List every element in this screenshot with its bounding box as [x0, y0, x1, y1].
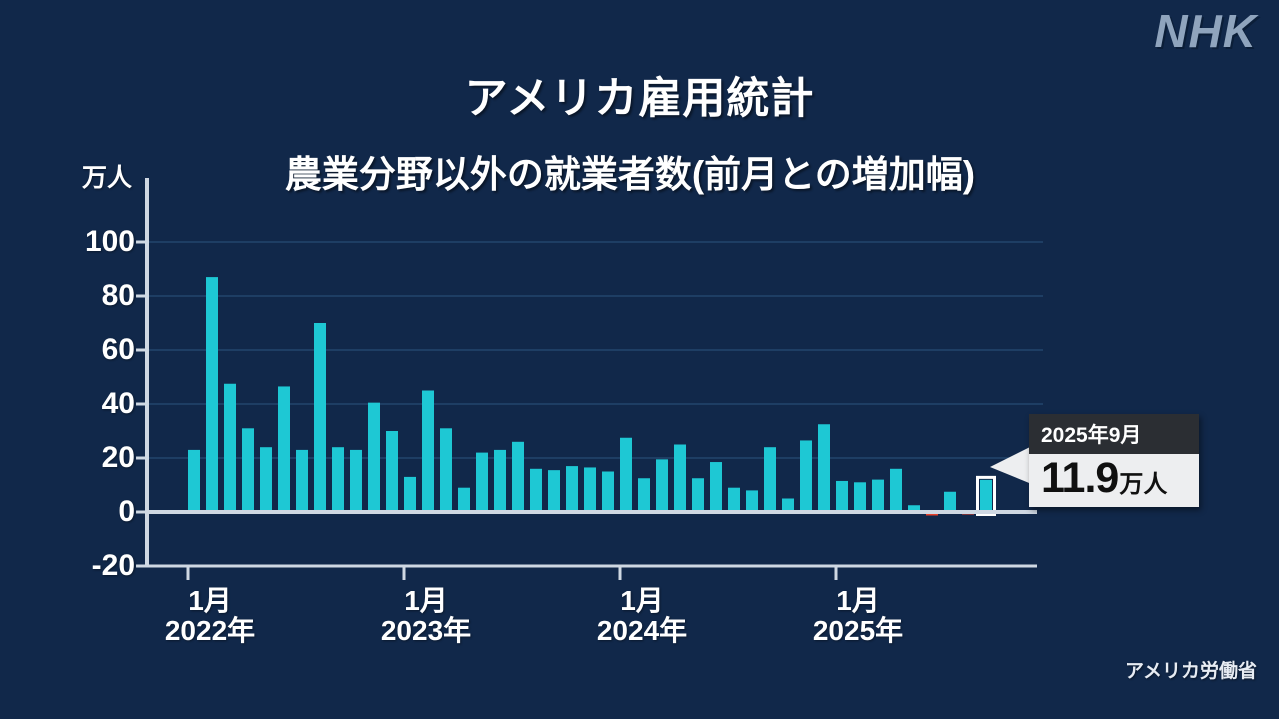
bar	[674, 445, 686, 513]
bar	[512, 442, 524, 512]
callout-pointer-icon	[990, 445, 1034, 485]
y-axis-tick-label: 20	[35, 441, 135, 475]
x-axis-tick-year: 2022年	[165, 615, 255, 647]
chart-canvas: NHK アメリカ雇用統計 農業分野以外の就業者数(前月との増加幅) 万人 100…	[0, 0, 1279, 719]
bar	[296, 450, 308, 512]
bar	[656, 459, 668, 512]
bar	[746, 490, 758, 512]
bar	[638, 478, 650, 512]
bar	[404, 477, 416, 512]
bars	[188, 277, 995, 515]
y-axis-tick-label: -20	[35, 549, 135, 583]
x-axis-tick-year: 2025年	[813, 615, 903, 647]
bar	[440, 428, 452, 512]
bar	[836, 481, 848, 512]
bar	[206, 277, 218, 512]
bar	[728, 488, 740, 512]
x-axis-tick-month: 1月	[381, 586, 471, 615]
x-axis-tick-month: 1月	[165, 586, 255, 615]
y-axis-tick-label: 0	[35, 495, 135, 529]
bar	[350, 450, 362, 512]
callout-period: 2025年9月	[1029, 414, 1199, 454]
bar	[332, 447, 344, 512]
x-axis-tick-year: 2023年	[381, 615, 471, 647]
x-axis-tick-month: 1月	[813, 586, 903, 615]
x-axis-ticks	[188, 566, 836, 580]
bar	[764, 447, 776, 512]
bar	[224, 384, 236, 512]
bar	[188, 450, 200, 512]
y-axis-tick-label: 60	[35, 333, 135, 367]
bar	[458, 488, 470, 512]
bar	[566, 466, 578, 512]
x-axis-tick-month: 1月	[597, 586, 687, 615]
bar	[386, 431, 398, 512]
callout-tooltip: 2025年9月 11.9 万人	[1029, 414, 1199, 507]
bar	[818, 424, 830, 512]
bar	[710, 462, 722, 512]
y-axis-tick-label: 40	[35, 387, 135, 421]
callout-body: 11.9 万人	[1029, 454, 1199, 507]
bar	[242, 428, 254, 512]
callout-unit: 万人	[1119, 464, 1167, 499]
bar	[476, 453, 488, 512]
bar	[260, 447, 272, 512]
x-axis-tick-label: 1月2022年	[165, 586, 255, 648]
y-axis-tick-label: 80	[35, 279, 135, 313]
y-axis-tick-label: 100	[35, 225, 135, 259]
bar	[782, 499, 794, 513]
bar	[872, 480, 884, 512]
bar	[692, 478, 704, 512]
x-axis-tick-year: 2024年	[597, 615, 687, 647]
bar	[854, 482, 866, 512]
bar	[800, 440, 812, 512]
x-axis-tick-label: 1月2024年	[597, 586, 687, 648]
bar	[422, 391, 434, 513]
bar	[620, 438, 632, 512]
bar	[530, 469, 542, 512]
bar	[314, 323, 326, 512]
bar	[278, 386, 290, 512]
bar	[890, 469, 902, 512]
x-axis-tick-label: 1月2025年	[813, 586, 903, 648]
bar	[944, 492, 956, 512]
bar	[584, 467, 596, 512]
callout-value: 11.9	[1041, 456, 1118, 501]
bar	[602, 472, 614, 513]
bar	[494, 450, 506, 512]
bar	[368, 403, 380, 512]
x-axis-tick-label: 1月2023年	[381, 586, 471, 648]
source-credit: アメリカ労働省	[1125, 656, 1257, 683]
bar	[548, 470, 560, 512]
